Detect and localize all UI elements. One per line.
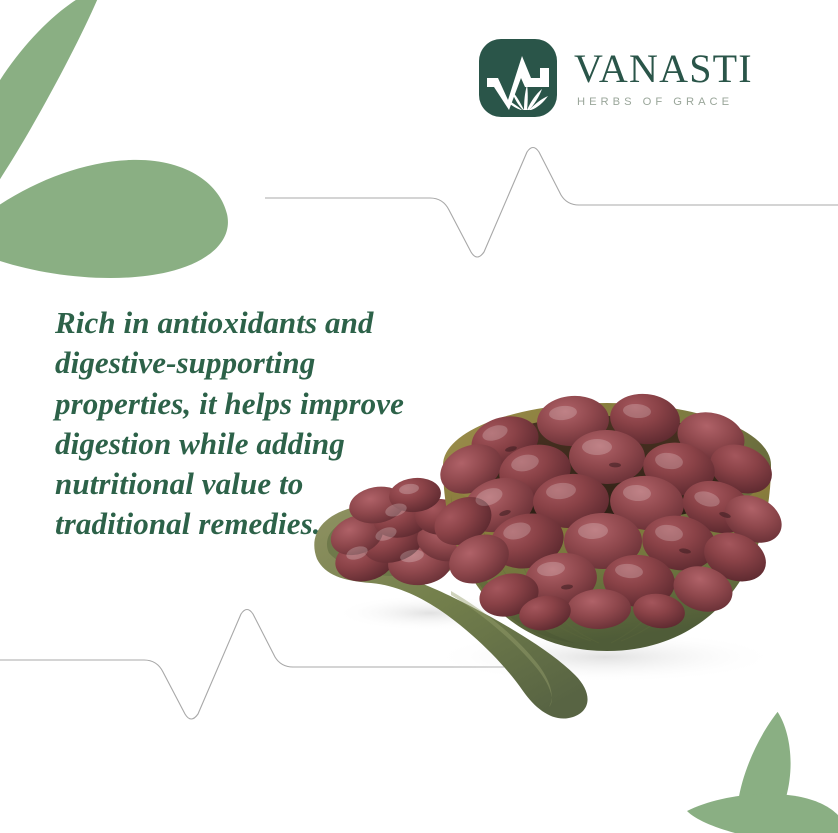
brand-name: VANASTI xyxy=(574,49,764,91)
top-left-leaf-decoration xyxy=(0,0,290,300)
product-photo xyxy=(255,345,838,745)
headline-line: Rich in antioxidants and xyxy=(55,303,435,343)
brand-tagline: HERBS OF GRACE xyxy=(577,96,764,108)
svg-text:VANASTI: VANASTI xyxy=(574,49,753,91)
promotional-card: VANASTI HERBS OF GRACE Rich in antioxida… xyxy=(0,0,838,833)
top-heartbeat-line xyxy=(265,140,838,265)
logo-wordmark-group: VANASTI HERBS OF GRACE xyxy=(574,49,764,108)
logo-mark-icon xyxy=(478,38,558,118)
brand-logo: VANASTI HERBS OF GRACE xyxy=(478,38,764,118)
